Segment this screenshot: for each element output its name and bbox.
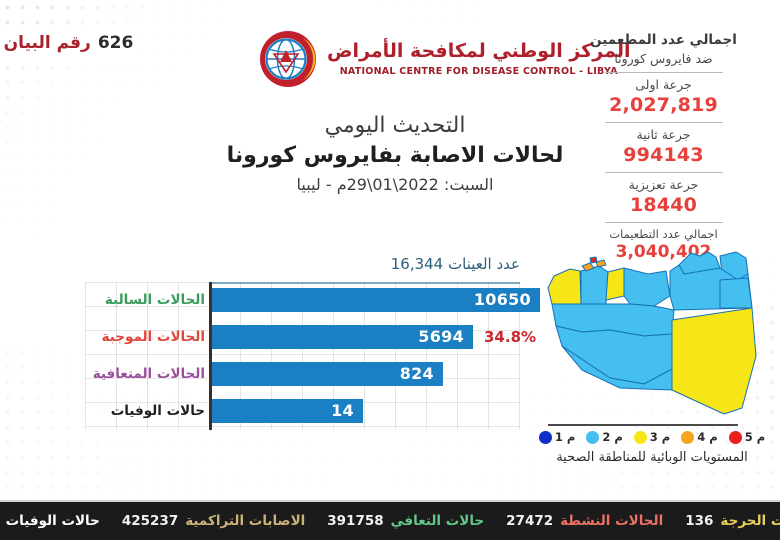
vaccination-divider-1 <box>605 72 723 73</box>
bar-value-recovered: 824 <box>400 366 434 382</box>
legend-item-level-4: م 4 <box>681 430 717 444</box>
title-line-daily-update: التحديث اليومي <box>200 112 590 140</box>
poster-page: 626 رقم البيان المركز <box>0 0 780 540</box>
page-title: التحديث اليومي لحالات الاصابة بفايروس كو… <box>200 112 590 196</box>
bar-label-negative: الحالات السالبة <box>105 292 205 308</box>
stat-cumulative-cases-label: الاصابات التراكمية <box>185 513 305 529</box>
legend-label-level-2: م 2 <box>602 430 622 444</box>
vaccination-booster-label: جرعة تعزيزية <box>561 177 766 193</box>
bar-value-positive: 5694 <box>418 329 464 345</box>
cases-bar-chart: عدد العينات 16,344 10650 الحالات السالبة… <box>85 255 520 430</box>
bar-row-negative: 10650 <box>212 288 540 312</box>
stat-active-cases-label: الحالات النشطة <box>560 513 663 529</box>
bar-row-recovered: 824 <box>212 362 443 386</box>
legend-label-level-3: م 3 <box>650 430 670 444</box>
legend-dot-level-3-icon <box>634 431 647 444</box>
vaccination-panel: اجمالي عدد المطعمين ضد فايروس كورونا جرع… <box>561 32 766 264</box>
legend-dot-level-2-icon <box>586 431 599 444</box>
bulletin-number-label: رقم البيان <box>4 35 91 52</box>
bar-recovered: 824 <box>212 362 443 386</box>
stat-recoveries-label: حالات التعافي <box>391 513 485 529</box>
bar-label-wrap-negative: الحالات السالبة <box>85 288 205 312</box>
bar-row-deaths: 14 <box>212 399 363 423</box>
stat-recoveries-value: 391758 <box>327 513 383 529</box>
map-region-east-blue-2 <box>720 278 752 308</box>
vaccination-divider-2 <box>605 122 723 123</box>
stat-critical-cases: الحالات الحرجة 136 <box>674 513 780 529</box>
bar-label-deaths: حالات الوفيات <box>111 403 205 419</box>
vaccination-dose2-value: 994143 <box>561 144 766 168</box>
bar-label-positive: الحالات الموجبة <box>102 329 205 345</box>
vaccination-divider-4 <box>605 222 723 223</box>
ncdc-crescent-globe-icon <box>257 28 319 90</box>
legend-dot-level-1-icon <box>539 431 552 444</box>
bar-row-positive: 5694 34.8% <box>212 325 536 349</box>
stat-critical-cases-value: 136 <box>685 513 713 529</box>
vaccination-booster-value: 18440 <box>561 194 766 218</box>
bar-label-wrap-deaths: حالات الوفيات <box>85 399 205 423</box>
map-legend: م 5 م 4 م 3 م 2 م 1 <box>524 430 780 444</box>
bar-label-wrap-recovered: الحالات المتعافية <box>85 362 205 386</box>
map-region-orange-b <box>596 260 606 267</box>
legend-label-level-5: م 5 <box>745 430 765 444</box>
legend-dot-level-4-icon <box>681 431 694 444</box>
map-region-nw-yellow <box>548 269 581 304</box>
stat-recoveries: حالات التعافي 391758 <box>316 513 495 529</box>
map-legend-caption: المستويات الوبائية للمناطقة الصحية <box>524 450 780 465</box>
vaccination-heading-primary: اجمالي عدد المطعمين <box>561 32 766 50</box>
map-region-tripoli <box>581 266 608 304</box>
legend-item-level-1: م 1 <box>539 430 575 444</box>
summary-stat-bar: الحالات الحرجة 136 الحالات النشطة 27472 … <box>0 500 780 540</box>
stat-deaths: حالات الوفيات 6007 <box>0 513 111 529</box>
legend-item-level-5: م 5 <box>729 430 765 444</box>
stat-cumulative-cases: الاصابات التراكمية 425237 <box>111 513 316 529</box>
stat-cumulative-cases-value: 425237 <box>122 513 178 529</box>
legend-item-level-3: م 3 <box>634 430 670 444</box>
legend-item-level-2: م 2 <box>586 430 622 444</box>
bulletin-number-value: 626 <box>98 35 134 52</box>
bulletin-number-badge: 626 رقم البيان <box>0 26 137 60</box>
libya-epidemic-levels-map <box>524 238 780 428</box>
title-line-covid-cases: لحالات الاصابة بفايروس كورونا <box>200 142 590 171</box>
vaccination-dose2-label: جرعة ثانية <box>561 127 766 143</box>
bar-label-wrap-positive: الحالات الموجبة <box>85 325 205 349</box>
ncdc-logo: المركز الوطني لمكافحة الأمراض NATIONAL C… <box>257 24 547 94</box>
bar-value-deaths: 14 <box>331 403 354 419</box>
bar-negative: 10650 <box>212 288 540 312</box>
title-line-date: السبت: 2022\01\29م - ليبيا <box>200 175 590 196</box>
chart-top-rule <box>211 282 520 284</box>
chart-title-samples: عدد العينات 16,344 <box>391 255 520 273</box>
bar-positive: 5694 <box>212 325 473 349</box>
stat-deaths-label: حالات الوفيات <box>6 513 100 529</box>
legend-label-level-4: م 4 <box>697 430 717 444</box>
bar-deaths: 14 <box>212 399 363 423</box>
stat-active-cases-value: 27472 <box>506 513 553 529</box>
vaccination-dose1-value: 2,027,819 <box>561 94 766 118</box>
stat-active-cases: الحالات النشطة 27472 <box>495 513 674 529</box>
map-region-red-a <box>590 257 597 263</box>
vaccination-dose1-label: جرعة اولى <box>561 77 766 93</box>
vaccination-heading-secondary: ضد فايروس كورونا <box>561 51 766 68</box>
bar-label-recovered: الحالات المتعافية <box>93 366 205 382</box>
map-region-se-yellow <box>672 308 756 414</box>
legend-divider <box>548 424 738 426</box>
legend-dot-level-5-icon <box>729 431 742 444</box>
bar-value-negative: 10650 <box>474 292 531 308</box>
legend-label-level-1: م 1 <box>555 430 575 444</box>
vaccination-divider-3 <box>605 172 723 173</box>
map-region-north-central <box>624 268 670 306</box>
stat-critical-cases-label: الحالات الحرجة <box>720 513 780 529</box>
